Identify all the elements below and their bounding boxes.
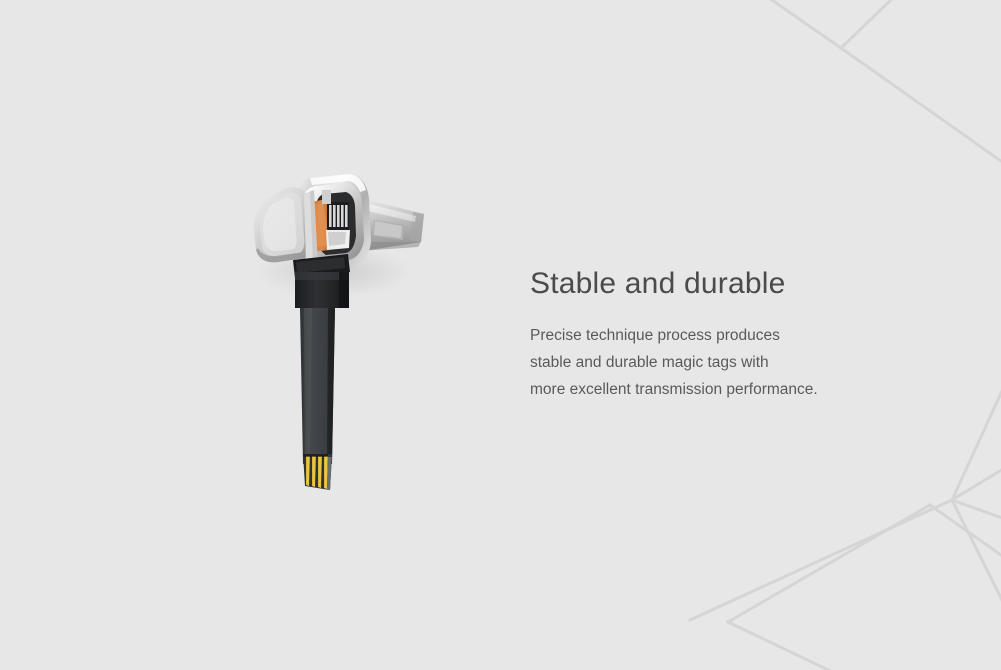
decor-line-node-d: [952, 500, 1001, 612]
decor-line-node-c: [952, 500, 1001, 520]
decor-line-topright-b: [841, 0, 895, 48]
decor-line-polygon-bottom: [728, 622, 845, 670]
feature-copy-block: Stable and durable Precise technique pro…: [530, 265, 930, 403]
gold-contact-pins: [303, 454, 332, 490]
description-line: stable and durable magic tags with: [530, 349, 930, 376]
flat-ribbon-cable: [300, 308, 335, 464]
description-line: Precise technique process produces: [530, 322, 930, 349]
decor-line-polygon-top: [728, 505, 930, 622]
feature-description: Precise technique process produces stabl…: [530, 322, 930, 403]
decor-line-topright-c: [841, 48, 1001, 166]
decor-line-polygon-edge: [930, 505, 1001, 560]
product-image-magnetic-usb-connector: [238, 168, 448, 518]
page-title: Stable and durable: [530, 265, 930, 303]
description-line: more excellent transmission performance.: [530, 376, 930, 403]
decor-line-node-a: [952, 378, 1001, 500]
decor-line-node-e: [690, 500, 952, 620]
banner-stage: Stable and durable Precise technique pro…: [0, 0, 1001, 670]
magnetic-cap: [254, 187, 318, 264]
decor-line-node-b: [952, 466, 1001, 500]
cable-strain-relief: [293, 254, 350, 308]
decor-line-topright-a: [766, 0, 841, 48]
